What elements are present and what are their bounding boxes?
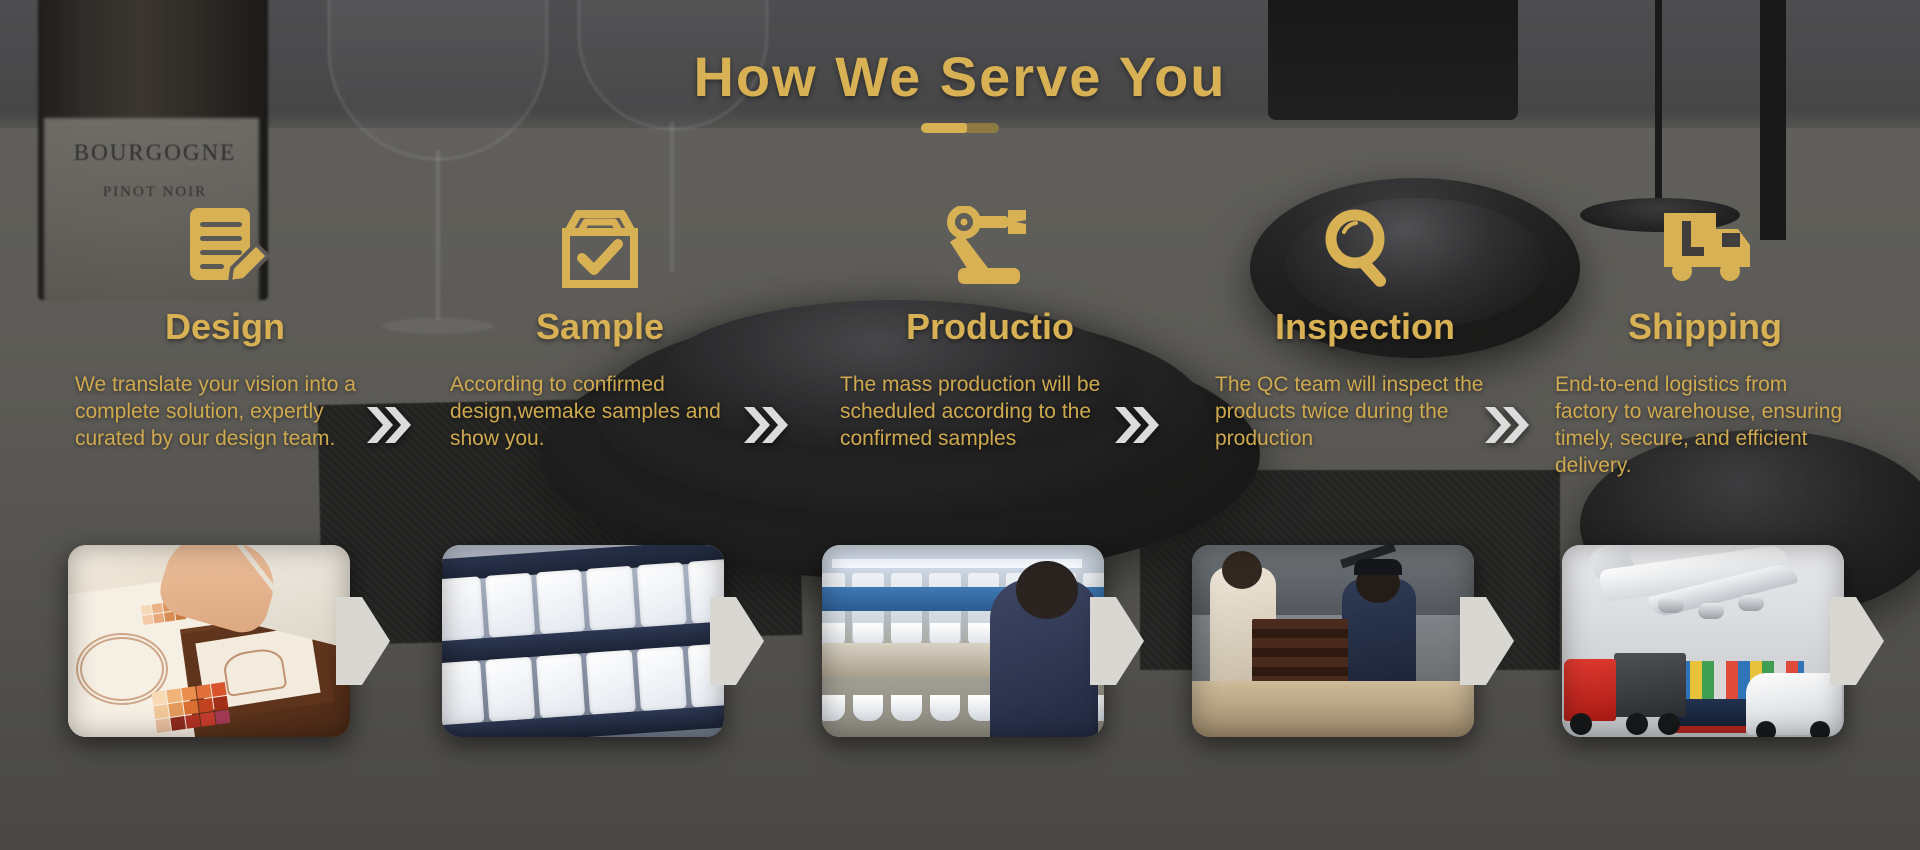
divider-primary-segment bbox=[921, 123, 969, 133]
step-title: Design bbox=[75, 306, 375, 348]
step-sample[interactable]: Sample According to confirmed design,wem… bbox=[450, 200, 750, 453]
step-title: Productio bbox=[840, 306, 1140, 348]
photo-card-production[interactable] bbox=[822, 545, 1104, 737]
step-description: We translate your vision into a complete… bbox=[75, 372, 375, 453]
step-description: The QC team will inspect the products tw… bbox=[1215, 372, 1515, 453]
double-chevron-right-icon bbox=[742, 405, 788, 445]
double-chevron-right-icon bbox=[365, 405, 411, 445]
card-arrow-tail bbox=[1830, 597, 1886, 685]
card-arrow-tail bbox=[1090, 597, 1146, 685]
section-header: How We Serve You bbox=[0, 44, 1920, 133]
photo-card-shipping[interactable] bbox=[1562, 545, 1844, 737]
step-description: According to confirmed design,wemake sam… bbox=[450, 372, 750, 453]
card-arrow-tail bbox=[1460, 597, 1516, 685]
process-photo-cards bbox=[0, 545, 1920, 745]
step-description: End-to-end logistics from factory to war… bbox=[1555, 372, 1855, 480]
robot-arm-icon bbox=[840, 200, 1140, 300]
step-inspection[interactable]: Inspection The QC team will inspect the … bbox=[1215, 200, 1515, 453]
connector-inspection-to-shipping bbox=[1483, 405, 1529, 445]
double-chevron-right-icon bbox=[1483, 405, 1529, 445]
box-check-icon bbox=[450, 200, 750, 300]
photo-card-design[interactable] bbox=[68, 545, 350, 737]
connector-design-to-sample bbox=[365, 405, 411, 445]
title-divider bbox=[0, 123, 1920, 133]
connector-sample-to-production bbox=[742, 405, 788, 445]
process-steps: Design We translate your vision into a c… bbox=[0, 200, 1920, 530]
card-arrow-tail bbox=[336, 597, 392, 685]
connector-production-to-inspection bbox=[1113, 405, 1159, 445]
step-title: Inspection bbox=[1215, 306, 1515, 348]
document-pencil-icon bbox=[75, 200, 375, 300]
double-chevron-right-icon bbox=[1113, 405, 1159, 445]
divider-secondary-segment bbox=[967, 123, 999, 133]
step-shipping[interactable]: Shipping End-to-end logistics from facto… bbox=[1555, 200, 1855, 480]
photo-card-sample[interactable] bbox=[442, 545, 724, 737]
step-design[interactable]: Design We translate your vision into a c… bbox=[75, 200, 375, 453]
photo-card-inspection[interactable] bbox=[1192, 545, 1474, 737]
step-production[interactable]: Productio The mass production will be sc… bbox=[840, 200, 1140, 453]
card-arrow-tail bbox=[710, 597, 766, 685]
step-description: The mass production will be scheduled ac… bbox=[840, 372, 1140, 453]
step-title: Shipping bbox=[1555, 306, 1855, 348]
step-title: Sample bbox=[450, 306, 750, 348]
truck-icon bbox=[1555, 200, 1855, 300]
magnifier-icon bbox=[1215, 200, 1515, 300]
page-title: How We Serve You bbox=[0, 44, 1920, 109]
